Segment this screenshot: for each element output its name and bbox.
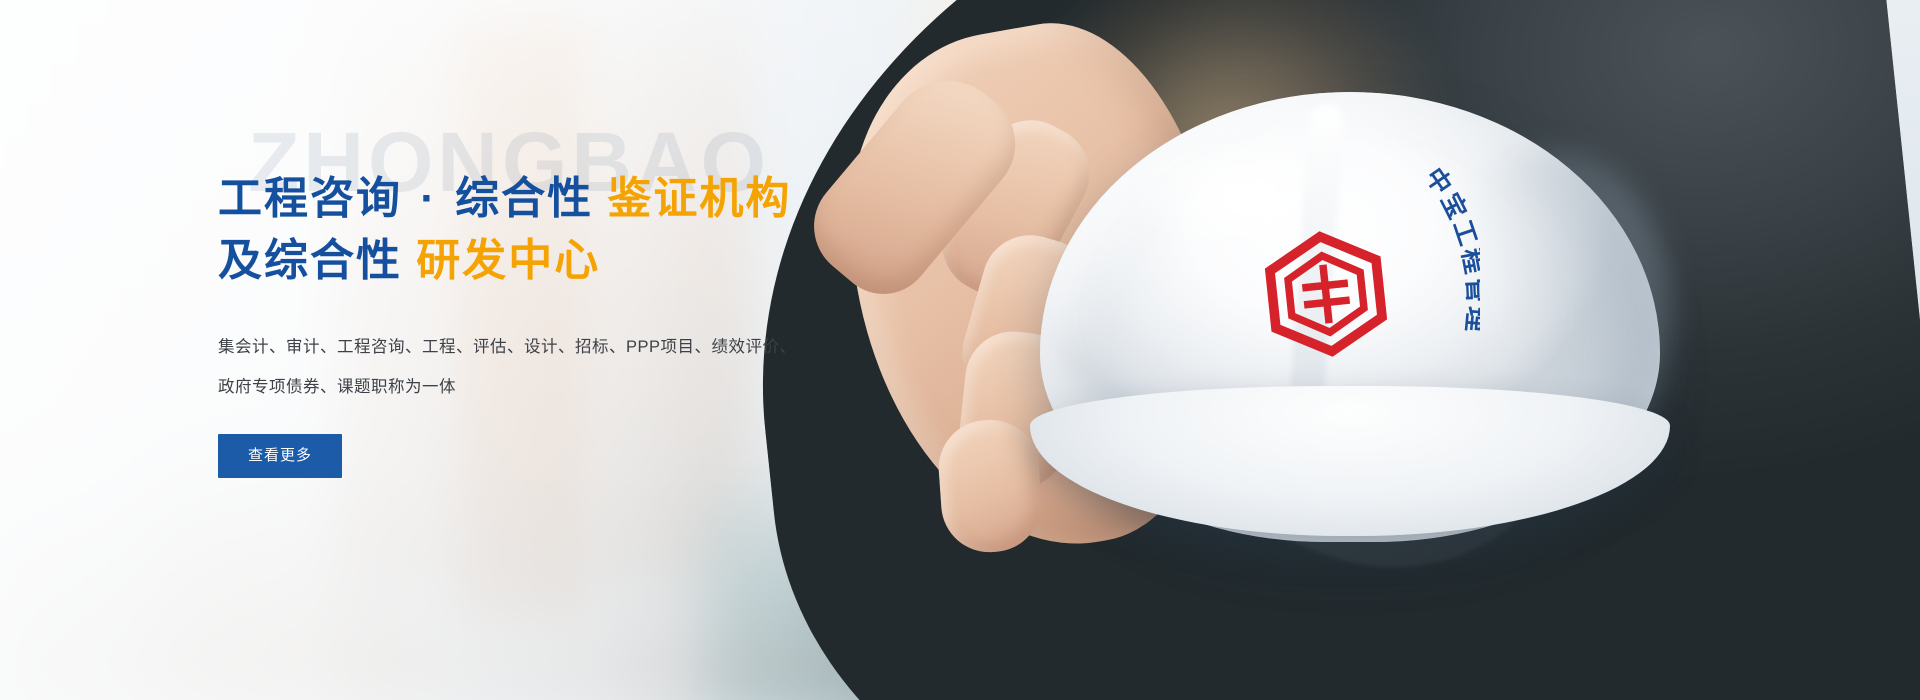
headline-line1-accent: 鉴证机构 — [607, 174, 791, 223]
view-more-button[interactable]: 查看更多 — [218, 434, 342, 479]
zhongbao-hexagon-logo-icon — [1256, 224, 1397, 365]
hero-banner: 中宝工程管理 ZHONGBAO 工程咨询 · 综合性 鉴证机构 及综合性 研发中… — [0, 0, 1920, 700]
hero-description: 集会计、审计、工程咨询、工程、评估、设计、招标、PPP项目、绩效评价、 政府专项… — [218, 327, 818, 408]
headline-line1-part2: 综合性 — [455, 174, 593, 223]
headline-line1-part1: 工程咨询 — [218, 174, 402, 223]
headline-separator-dot: · — [416, 174, 441, 223]
hero-content: ZHONGBAO 工程咨询 · 综合性 鉴证机构 及综合性 研发中心 集会计、审… — [218, 120, 978, 478]
hero-description-line-2: 政府专项债券、课题职称为一体 — [218, 367, 818, 407]
hero-description-line-1: 集会计、审计、工程咨询、工程、评估、设计、招标、PPP项目、绩效评价、 — [218, 327, 818, 367]
headline-line2-part1: 及综合性 — [218, 236, 402, 285]
page-title: 工程咨询 · 综合性 鉴证机构 及综合性 研发中心 — [218, 120, 978, 293]
headline-line2-accent: 研发中心 — [416, 236, 600, 285]
